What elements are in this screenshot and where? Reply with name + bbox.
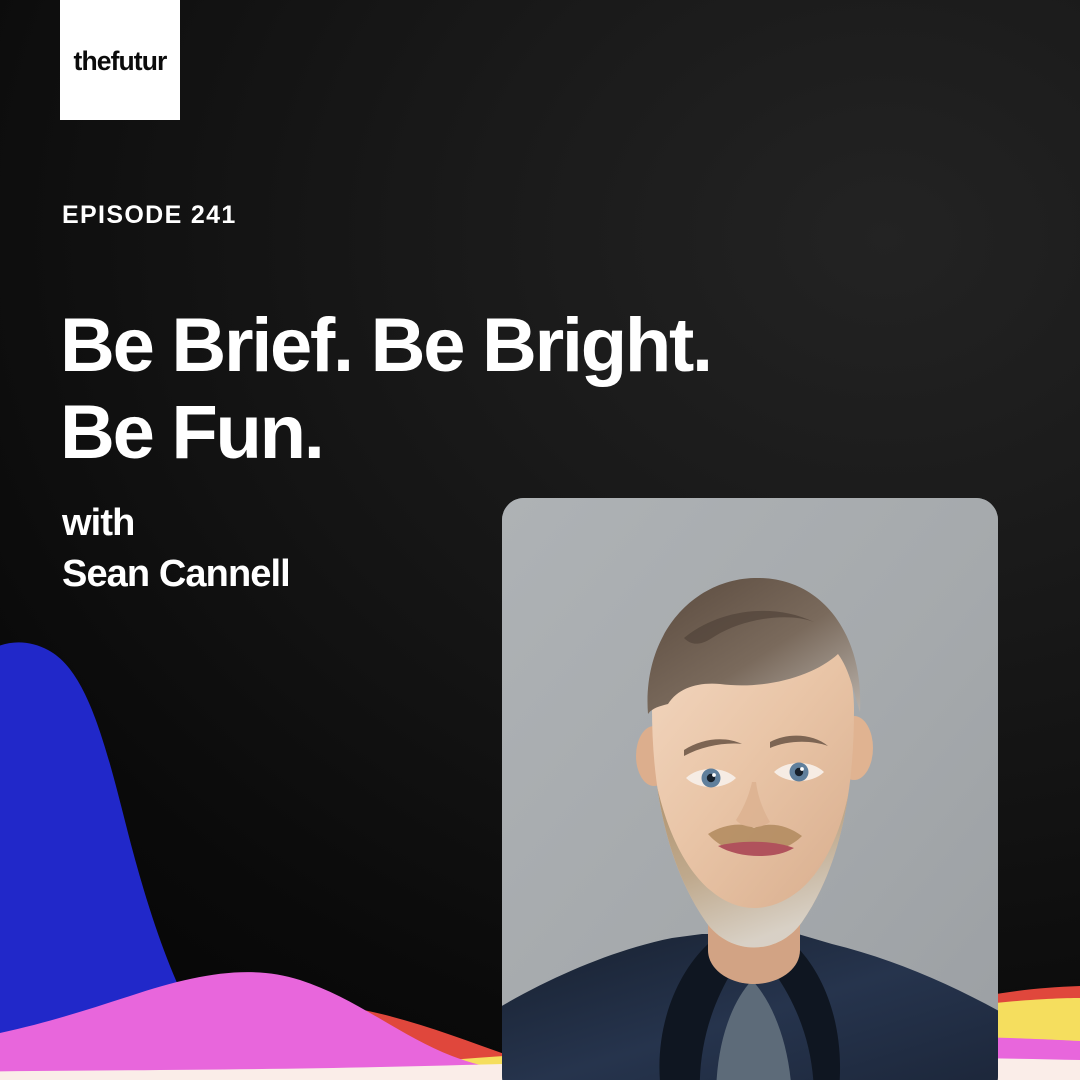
episode-label: EPISODE 241 — [62, 203, 237, 228]
episode-title: Be Brief. Be Bright. Be Fun. — [60, 303, 820, 476]
futur-logo[interactable]: thefutur — [60, 0, 180, 120]
guest-portrait — [502, 498, 998, 1080]
guest-credit: with Sean Cannell — [62, 498, 290, 601]
guest-preposition: with — [62, 498, 290, 549]
podcast-cover-art: thefutur EPISODE 241 Be Brief. Be Bright… — [0, 0, 1080, 1080]
guest-name: Sean Cannell — [62, 549, 290, 600]
futur-logo-text: thefutur — [74, 48, 167, 75]
